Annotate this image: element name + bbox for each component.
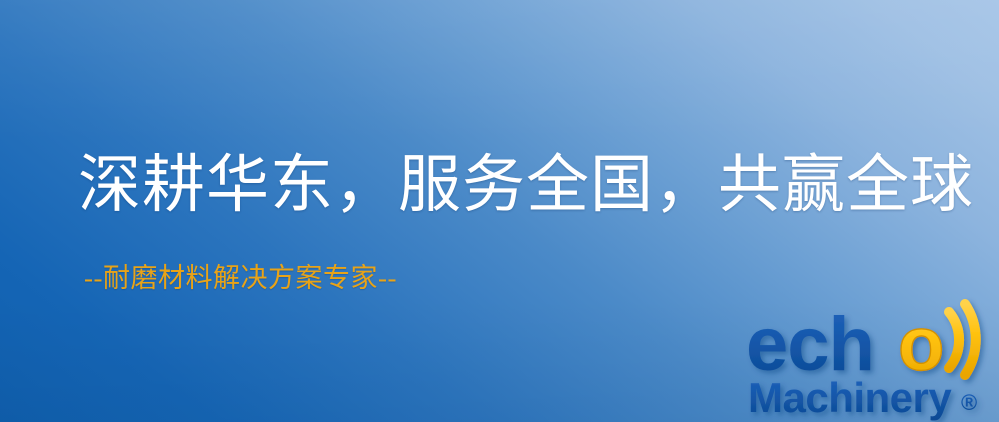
echo-wave-icon [949,304,976,375]
company-logo[interactable]: ech o Machinery ® [746,296,999,422]
page-title: 深耕华东，服务全国，共赢全球 [78,152,974,218]
hero-banner: 深耕华东，服务全国，共赢全球 --耐磨材料解决方案专家-- [0,0,999,422]
page-subtitle: --耐磨材料解决方案专家-- [84,264,397,294]
logo-trademark-icon: ® [961,390,977,415]
logo-subword: Machinery [748,374,952,421]
